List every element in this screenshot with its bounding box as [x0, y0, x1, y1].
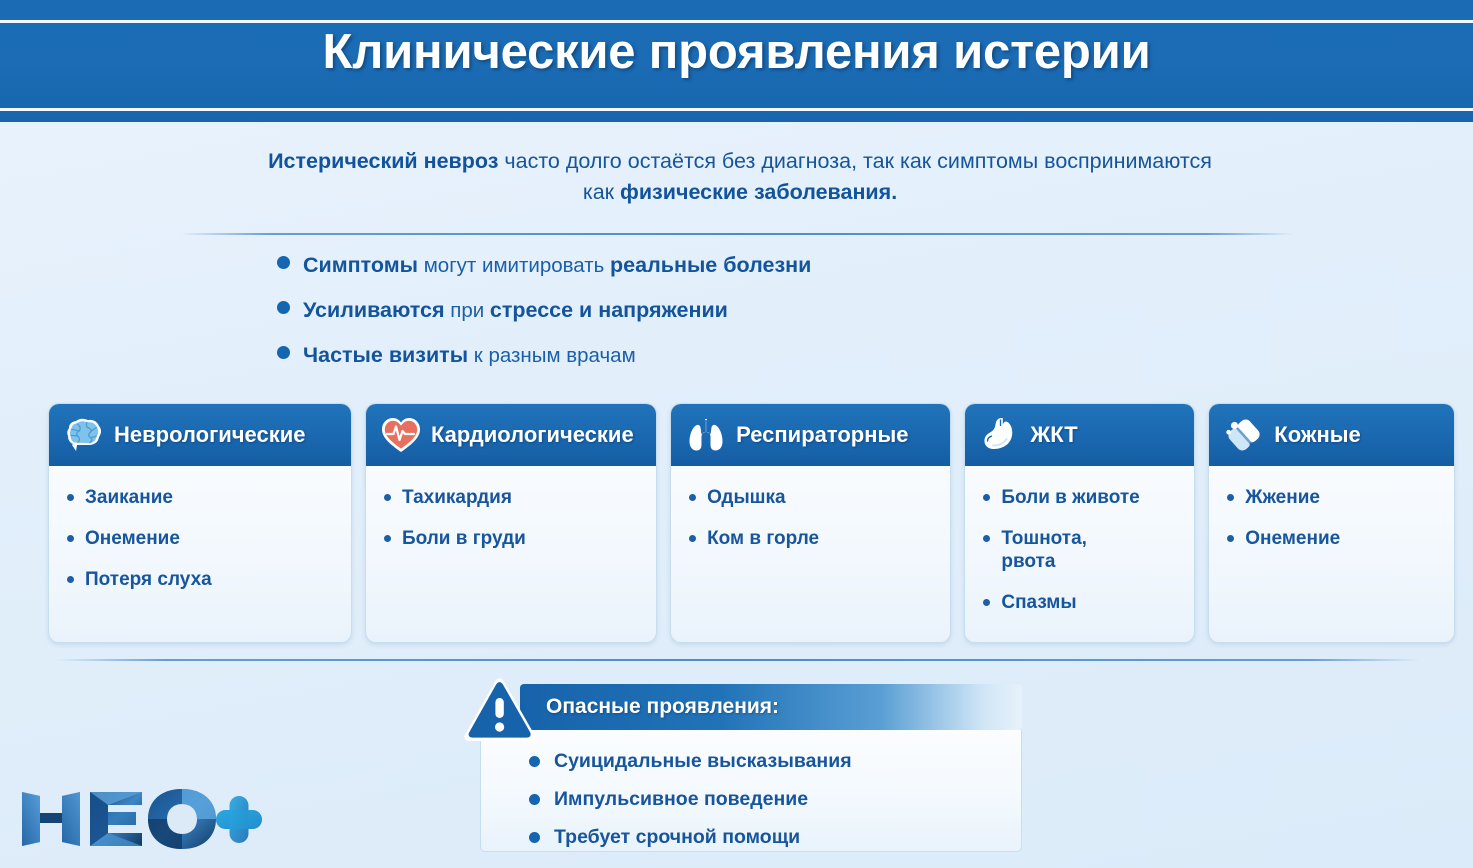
symptom-label: Онемение [85, 527, 180, 550]
divider-upper [180, 233, 1295, 235]
symptom-card-respiratory[interactable]: Респираторные Одышка Ком в горле [670, 403, 951, 643]
key-point-mid: при [445, 299, 490, 322]
symptom-label: Ком в горле [707, 527, 819, 550]
list-item: Заикание [67, 486, 339, 509]
bullet-dot-icon [689, 535, 696, 542]
list-item: Потеря слуха [67, 568, 339, 591]
danger-signs-heading: Опасные проявления: [546, 695, 779, 719]
bullet-dot-icon [277, 346, 290, 359]
symptom-label: Тошнота, рвота [1001, 527, 1087, 573]
bandage-icon [1222, 413, 1266, 457]
symptom-label: Боли в животе [1001, 486, 1139, 509]
bullet-dot-icon [529, 756, 540, 767]
card-title: Кардиологические [431, 422, 634, 448]
symptom-label: Потеря слуха [85, 568, 212, 591]
key-point-text: Частые визиты к разным врачам [303, 343, 636, 368]
key-point-text: Усиливаются при стрессе и напряжении [303, 298, 728, 323]
bullet-dot-icon [1227, 535, 1234, 542]
card-title: Неврологические [114, 422, 306, 448]
list-item: Онемение [67, 527, 339, 550]
bullet-dot-icon [67, 494, 74, 501]
key-point-tail: стрессе и напряжении [490, 298, 728, 322]
bullet-dot-icon [1227, 494, 1234, 501]
danger-signs-header: Опасные проявления: [520, 684, 1022, 730]
intro-line-1-rest: часто долго остаётся без диагноза, так к… [498, 149, 1211, 173]
bullet-dot-icon [983, 494, 990, 501]
bullet-dot-icon [689, 494, 696, 501]
card-header: Кожные [1209, 404, 1454, 466]
banner-rule-bottom [0, 108, 1473, 111]
list-item: Спазмы [983, 591, 1182, 614]
symptom-label: Жжение [1245, 486, 1320, 509]
list-item: Тахикардия [384, 486, 644, 509]
card-header: Неврологические [49, 404, 351, 466]
page-banner: Клинические проявления истерии [0, 0, 1473, 122]
card-body: Заикание Онемение Потеря слуха [49, 466, 351, 642]
symptom-card-gastrointestinal[interactable]: ЖКТ Боли в животе Тошнота, рвота Спазмы [964, 403, 1195, 643]
warning-triangle-icon [464, 676, 542, 746]
danger-signs-panel: Суицидальные высказывания Импульсивное п… [462, 676, 1022, 856]
card-body: Жжение Онемение [1209, 466, 1454, 642]
key-point-tail: реальные болезни [610, 253, 811, 277]
card-body: Боли в животе Тошнота, рвота Спазмы [965, 466, 1194, 642]
key-point-text: Симптомы могут имитировать реальные боле… [303, 253, 811, 278]
symptom-label: Боли в груди [402, 527, 526, 550]
brain-icon [62, 413, 106, 457]
neo-plus-logo[interactable] [18, 786, 263, 852]
danger-sign-label: Суицидальные высказывания [554, 750, 852, 773]
list-item: Тошнота, рвота [983, 527, 1182, 573]
card-body: Тахикардия Боли в груди [366, 466, 656, 642]
list-item: Импульсивное поведение [529, 780, 1021, 818]
key-point-tail: к разным врачам [474, 344, 636, 367]
bullet-dot-icon [277, 301, 290, 314]
page-title: Клинические проявления истерии [0, 24, 1473, 80]
card-body: Одышка Ком в горле [671, 466, 950, 642]
list-item: Симптомы могут имитировать реальные боле… [277, 253, 1177, 298]
bullet-dot-icon [384, 494, 391, 501]
bullet-dot-icon [529, 832, 540, 843]
list-item: Боли в животе [983, 486, 1182, 509]
stomach-icon [978, 413, 1022, 457]
list-item: Ком в горле [689, 527, 938, 550]
bullet-dot-icon [67, 576, 74, 583]
key-point-mid: могут имитировать [418, 254, 610, 277]
list-item: Суицидальные высказывания [529, 742, 1021, 780]
bullet-dot-icon [529, 794, 540, 805]
card-title: Респираторные [736, 422, 908, 448]
danger-sign-label: Требует срочной помощи [554, 826, 800, 849]
list-item: Онемение [1227, 527, 1442, 550]
list-item: Частые визиты к разным врачам [277, 343, 1177, 388]
key-points-list: Симптомы могут имитировать реальные боле… [277, 253, 1177, 388]
list-item: Одышка [689, 486, 938, 509]
card-header: Кардиологические [366, 404, 656, 466]
intro-line-1: Истерический невроз часто долго остаётся… [150, 146, 1330, 177]
symptom-card-row: Неврологические Заикание Онемение Потеря… [48, 403, 1455, 643]
divider-lower [55, 659, 1420, 661]
card-title: Кожные [1274, 422, 1361, 448]
bullet-dot-icon [384, 535, 391, 542]
list-item: Требует срочной помощи [529, 818, 1021, 856]
card-title: ЖКТ [1030, 422, 1077, 448]
key-point-lead: Усиливаются [303, 298, 445, 322]
bullet-dot-icon [983, 535, 990, 542]
card-header: Респираторные [671, 404, 950, 466]
key-point-lead: Частые визиты [303, 343, 468, 367]
symptom-card-cardiological[interactable]: Кардиологические Тахикардия Боли в груди [365, 403, 657, 643]
symptom-card-skin[interactable]: Кожные Жжение Онемение [1208, 403, 1455, 643]
intro-line-2-prefix: как [583, 180, 620, 204]
bullet-dot-icon [983, 599, 990, 606]
lungs-icon [684, 413, 728, 457]
symptom-label: Спазмы [1001, 591, 1076, 614]
list-item: Боли в груди [384, 527, 644, 550]
danger-signs-list: Суицидальные высказывания Импульсивное п… [480, 730, 1022, 852]
intro-term: Истерический невроз [268, 149, 498, 173]
symptom-label: Одышка [707, 486, 786, 509]
symptom-label: Заикание [85, 486, 173, 509]
key-point-lead: Симптомы [303, 253, 418, 277]
intro-line-2-emphasis: физические заболевания. [620, 180, 897, 204]
symptom-label: Онемение [1245, 527, 1340, 550]
list-item: Жжение [1227, 486, 1442, 509]
symptom-label: Тахикардия [402, 486, 512, 509]
list-item: Усиливаются при стрессе и напряжении [277, 298, 1177, 343]
heart-pulse-icon [379, 413, 423, 457]
symptom-card-neurological[interactable]: Неврологические Заикание Онемение Потеря… [48, 403, 352, 643]
card-header: ЖКТ [965, 404, 1194, 466]
bullet-dot-icon [67, 535, 74, 542]
bullet-dot-icon [277, 256, 290, 269]
intro-paragraph: Истерический невроз часто долго остаётся… [150, 146, 1330, 208]
banner-rule-top [0, 20, 1473, 23]
intro-line-2: как физические заболевания. [150, 177, 1330, 208]
danger-sign-label: Импульсивное поведение [554, 788, 808, 811]
